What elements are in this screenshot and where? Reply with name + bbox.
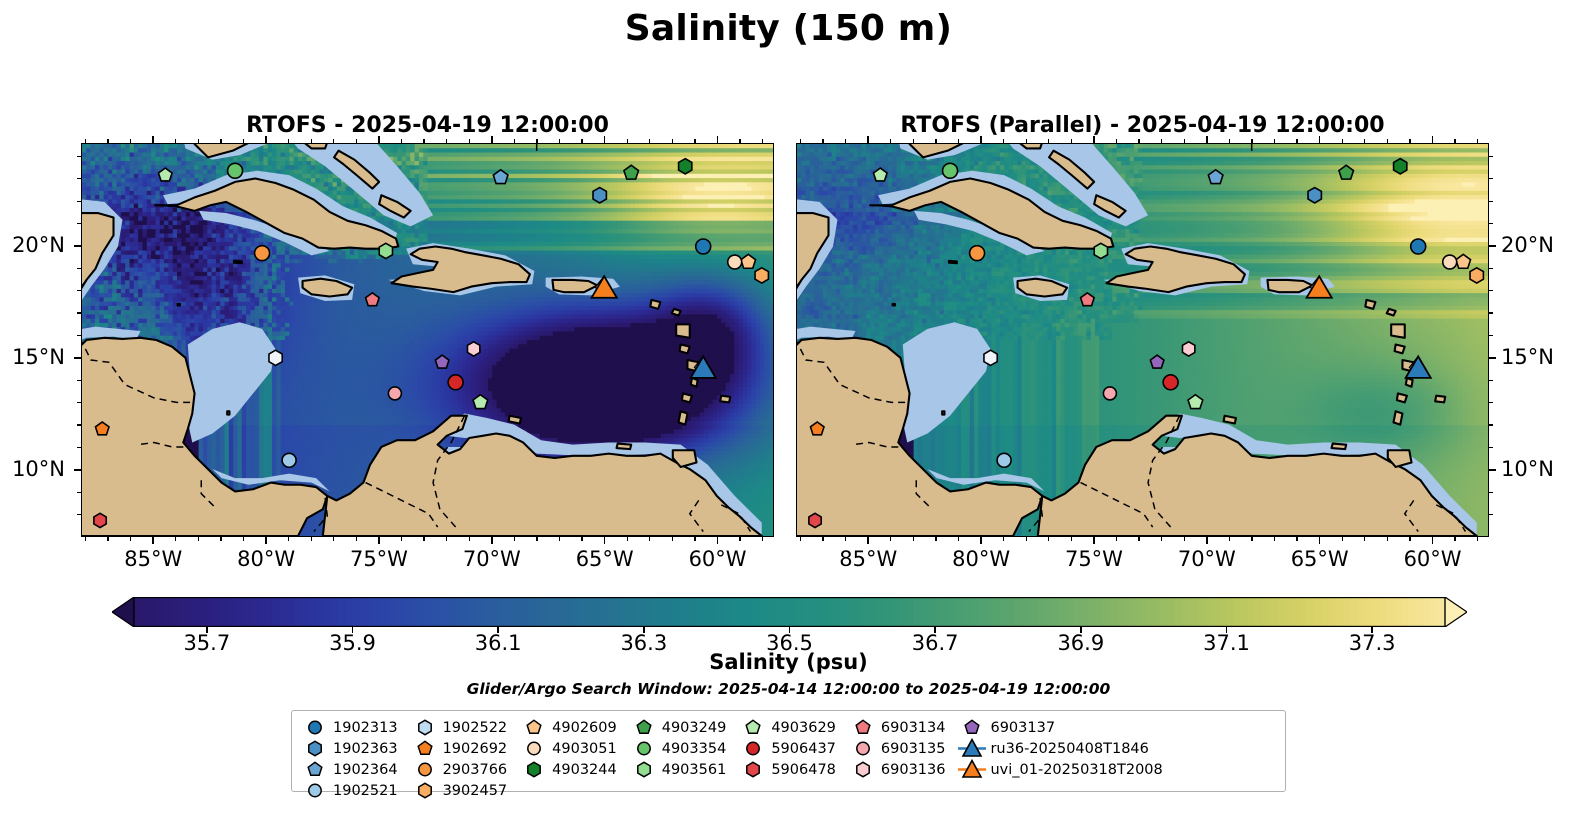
x-tick-top: [378, 136, 380, 143]
legend-item-label: 6903136: [878, 762, 946, 778]
argo-marker: [970, 246, 985, 261]
argo-marker: [255, 246, 270, 261]
y-minor-tick: [1489, 447, 1493, 448]
x-minor-tick: [694, 537, 695, 541]
x-minor-tick: [800, 139, 801, 143]
legend-marker-icon: [519, 759, 549, 780]
x-minor-tick: [1454, 139, 1455, 143]
legend-item-label: 4903249: [659, 720, 727, 736]
y-minor-tick: [77, 335, 81, 336]
legend-item[interactable]: 5906437: [738, 738, 836, 759]
argo-marker: [984, 350, 997, 365]
legend-marker-icon: [300, 780, 330, 801]
legend-item-label: 4903561: [659, 762, 727, 778]
x-tick: [867, 537, 869, 544]
x-minor-tick: [845, 537, 846, 541]
legend-marker-icon: [738, 717, 768, 738]
colorbar-tick: [643, 627, 644, 633]
y-minor-tick: [77, 201, 81, 202]
legend-item[interactable]: ru36-20250408T1846: [957, 738, 1162, 759]
x-tick: [1319, 537, 1321, 544]
x-tick-label: 75°W: [1049, 547, 1139, 571]
colorbar-tick: [352, 627, 353, 633]
x-minor-tick: [958, 139, 959, 143]
legend-item-label: ru36-20250408T1846: [987, 741, 1148, 757]
x-minor-tick: [1477, 537, 1478, 541]
argo-marker: [997, 453, 1011, 467]
colorbar-tick: [789, 627, 790, 633]
legend-item[interactable]: 4903354: [629, 738, 727, 759]
x-tick: [152, 537, 154, 544]
x-minor-tick: [649, 537, 650, 541]
x-minor-tick: [85, 537, 86, 541]
x-minor-tick: [845, 139, 846, 143]
x-minor-tick: [469, 139, 470, 143]
y-tick-label: 15°N: [1501, 345, 1575, 369]
legend-item[interactable]: 1902364: [300, 759, 398, 780]
x-minor-tick: [1003, 139, 1004, 143]
legend-marker-icon: [629, 738, 659, 759]
x-minor-tick: [672, 139, 673, 143]
colorbar-tick-label: 36.5: [745, 631, 835, 655]
x-minor-tick: [536, 537, 537, 541]
x-tick-top: [867, 136, 869, 143]
x-minor-tick: [1387, 537, 1388, 541]
argo-marker: [1308, 188, 1321, 203]
argo-marker: [388, 387, 401, 400]
x-minor-tick: [935, 537, 936, 541]
x-tick-top: [152, 136, 154, 143]
x-tick-top: [604, 136, 606, 143]
legend-item-label: 1902313: [330, 720, 398, 736]
x-minor-tick: [401, 537, 402, 541]
x-minor-tick: [762, 139, 763, 143]
x-minor-tick: [107, 537, 108, 541]
legend-item[interactable]: 4903629: [738, 717, 836, 738]
legend-marker-icon: [410, 759, 440, 780]
panel-title-left: RTOFS - 2025-04-19 12:00:00: [81, 113, 774, 138]
legend-item-label: 1902692: [440, 741, 508, 757]
y-minor-tick: [1489, 223, 1493, 224]
x-tick-top: [980, 136, 982, 143]
y-minor-tick: [77, 178, 81, 179]
legend-item-label: 2903766: [440, 762, 508, 778]
legend-item[interactable]: 6903135: [848, 738, 946, 759]
y-minor-tick: [1489, 492, 1493, 493]
x-tick: [491, 537, 493, 544]
x-tick-label: 80°W: [221, 547, 311, 571]
map-panel-rtofs-parallel[interactable]: [796, 143, 1489, 537]
x-minor-tick: [1161, 537, 1162, 541]
y-minor-tick: [1489, 514, 1493, 515]
x-minor-tick: [1409, 139, 1410, 143]
x-minor-tick: [800, 537, 801, 541]
y-minor-tick: [77, 156, 81, 157]
x-minor-tick: [333, 537, 334, 541]
y-minor-tick: [77, 380, 81, 381]
x-tick: [1206, 537, 1208, 544]
y-tick-label: 20°N: [1501, 233, 1575, 257]
x-tick-top: [1432, 136, 1434, 143]
x-minor-tick: [1251, 139, 1252, 143]
x-minor-tick: [423, 537, 424, 541]
argo-marker: [1103, 387, 1116, 400]
x-minor-tick: [311, 537, 312, 541]
argo-marker: [228, 163, 243, 178]
y-minor-tick: [1489, 156, 1493, 157]
colorbar-tick-label: 35.9: [308, 631, 398, 655]
x-tick-label: 60°W: [1388, 547, 1478, 571]
y-minor-tick: [77, 312, 81, 313]
x-minor-tick: [1477, 139, 1478, 143]
legend-item-label: uvi_01-20250318T2008: [987, 762, 1162, 778]
legend-column: 1902522190269229037663902457: [410, 717, 508, 801]
x-minor-tick: [288, 537, 289, 541]
x-minor-tick: [913, 139, 914, 143]
x-minor-tick: [581, 139, 582, 143]
legend-marker-icon: [300, 759, 330, 780]
x-tick: [604, 537, 606, 544]
x-minor-tick: [423, 139, 424, 143]
legend-marker-icon: [410, 738, 440, 759]
x-tick-top: [1206, 136, 1208, 143]
x-minor-tick: [107, 139, 108, 143]
legend-item-label: 1902522: [440, 720, 508, 736]
x-tick-label: 80°W: [936, 547, 1026, 571]
x-minor-tick: [1161, 139, 1162, 143]
x-tick-label: 60°W: [673, 547, 763, 571]
x-minor-tick: [935, 139, 936, 143]
x-minor-tick: [1409, 537, 1410, 541]
figure: Salinity (150 m) RTOFS - 2025-04-19 12:0…: [0, 0, 1577, 827]
x-minor-tick: [1048, 537, 1049, 541]
x-minor-tick: [1454, 537, 1455, 541]
argo-marker: [755, 268, 768, 283]
colorbar[interactable]: [112, 597, 1467, 627]
x-minor-tick: [130, 139, 131, 143]
x-minor-tick: [1138, 139, 1139, 143]
legend-marker-icon: [519, 738, 549, 759]
argo-marker: [679, 159, 692, 174]
x-minor-tick: [1342, 537, 1343, 541]
legend: 1902313190236319023641902521190252219026…: [291, 710, 1286, 792]
x-minor-tick: [1251, 537, 1252, 541]
x-minor-tick: [739, 537, 740, 541]
argo-marker: [943, 163, 958, 178]
x-minor-tick: [762, 537, 763, 541]
x-minor-tick: [1274, 537, 1275, 541]
y-minor-tick: [77, 424, 81, 425]
x-minor-tick: [243, 537, 244, 541]
y-minor-tick: [1489, 380, 1493, 381]
x-minor-tick: [356, 537, 357, 541]
argo-marker: [1470, 268, 1483, 283]
x-tick: [1093, 537, 1095, 544]
argo-marker: [593, 188, 606, 203]
x-minor-tick: [627, 139, 628, 143]
legend-marker-icon: [957, 738, 987, 759]
x-minor-tick: [739, 139, 740, 143]
x-minor-tick: [401, 139, 402, 143]
x-minor-tick: [1026, 537, 1027, 541]
legend-item[interactable]: 1902692: [410, 738, 508, 759]
legend-item-label: 3902457: [440, 783, 508, 799]
legend-item-label: 6903135: [878, 741, 946, 757]
colorbar-tick: [497, 627, 498, 633]
x-tick-label: 70°W: [447, 547, 537, 571]
x-minor-tick: [672, 537, 673, 541]
x-minor-tick: [1138, 537, 1139, 541]
argo-marker: [448, 375, 463, 390]
argo-marker: [282, 453, 296, 467]
y-minor-tick: [77, 290, 81, 291]
x-minor-tick: [627, 537, 628, 541]
y-tick: [1489, 357, 1496, 359]
legend-marker-icon: [410, 717, 440, 738]
legend-column: 6903137ru36-20250408T1846uvi_01-20250318…: [957, 717, 1162, 801]
x-minor-tick: [1364, 139, 1365, 143]
colorbar-tick: [1080, 627, 1081, 633]
x-minor-tick: [175, 537, 176, 541]
x-tick-top: [1093, 136, 1095, 143]
legend-item-label: 6903137: [987, 720, 1055, 736]
legend-marker-icon: [957, 759, 987, 780]
argo-marker: [94, 513, 106, 527]
x-minor-tick: [333, 139, 334, 143]
legend-item[interactable]: 5906478: [738, 759, 836, 780]
legend-column: 490260949030514903244: [519, 717, 617, 801]
x-minor-tick: [1048, 139, 1049, 143]
y-tick-label: 10°N: [0, 457, 65, 481]
argo-marker: [809, 513, 821, 527]
x-minor-tick: [446, 139, 447, 143]
x-minor-tick: [1116, 139, 1117, 143]
legend-item-label: 5906437: [768, 741, 836, 757]
x-minor-tick: [175, 139, 176, 143]
figure-title: Salinity (150 m): [0, 8, 1577, 49]
y-tick: [1489, 469, 1496, 471]
x-minor-tick: [649, 139, 650, 143]
x-minor-tick: [1296, 139, 1297, 143]
colorbar-tick-label: 36.7: [890, 631, 980, 655]
argo-marker: [1394, 159, 1407, 174]
x-minor-tick: [1364, 537, 1365, 541]
x-tick-top: [1319, 136, 1321, 143]
argo-marker: [379, 243, 392, 258]
y-tick: [1489, 245, 1496, 247]
x-minor-tick: [958, 537, 959, 541]
y-tick-label: 10°N: [1501, 457, 1575, 481]
legend-marker-icon: [410, 780, 440, 801]
colorbar-tick: [934, 627, 935, 633]
y-tick-label: 20°N: [0, 233, 65, 257]
y-minor-tick: [1489, 424, 1493, 425]
x-minor-tick: [1184, 537, 1185, 541]
legend-item[interactable]: uvi_01-20250318T2008: [957, 759, 1162, 780]
legend-item[interactable]: 6903137: [957, 717, 1162, 738]
x-minor-tick: [288, 139, 289, 143]
x-minor-tick: [1296, 537, 1297, 541]
x-tick-label: 75°W: [334, 547, 424, 571]
x-minor-tick: [822, 537, 823, 541]
x-minor-tick: [130, 537, 131, 541]
legend-item[interactable]: 4903051: [519, 738, 617, 759]
legend-marker-icon: [300, 717, 330, 738]
legend-item-label: 4903354: [659, 741, 727, 757]
x-minor-tick: [913, 537, 914, 541]
legend-column: 690313469031356903136: [848, 717, 946, 801]
x-minor-tick: [890, 537, 891, 541]
y-minor-tick: [1489, 312, 1493, 313]
legend-column: 490362959064375906478: [738, 717, 836, 801]
x-minor-tick: [446, 537, 447, 541]
x-minor-tick: [356, 139, 357, 143]
y-minor-tick: [77, 268, 81, 269]
colorbar-tick: [206, 627, 207, 633]
x-minor-tick: [559, 537, 560, 541]
x-tick-label: 85°W: [823, 547, 913, 571]
x-tick-top: [491, 136, 493, 143]
x-tick-top: [717, 136, 719, 143]
x-minor-tick: [536, 139, 537, 143]
x-minor-tick: [1116, 537, 1117, 541]
x-tick-label: 65°W: [1275, 547, 1365, 571]
y-tick: [74, 245, 81, 247]
legend-item-label: 4903629: [768, 720, 836, 736]
x-minor-tick: [1387, 139, 1388, 143]
legend-marker-icon: [629, 759, 659, 780]
legend-marker-icon: [848, 717, 878, 738]
y-minor-tick: [77, 402, 81, 403]
legend-item-label: 1902521: [330, 783, 398, 799]
x-minor-tick: [1229, 537, 1230, 541]
legend-marker-icon: [957, 717, 987, 738]
legend-item-label: 4903244: [549, 762, 617, 778]
legend-item[interactable]: 4903244: [519, 759, 617, 780]
x-minor-tick: [514, 537, 515, 541]
argo-marker: [1443, 255, 1457, 269]
x-tick-label: 70°W: [1162, 547, 1252, 571]
legend-item[interactable]: 1902521: [300, 780, 398, 801]
y-minor-tick: [77, 514, 81, 515]
legend-item[interactable]: 4903561: [629, 759, 727, 780]
x-minor-tick: [694, 139, 695, 143]
legend-item-label: 4902609: [549, 720, 617, 736]
x-minor-tick: [1274, 139, 1275, 143]
argo-marker: [467, 342, 479, 356]
x-tick-label: 85°W: [108, 547, 198, 571]
colorbar-tick-label: 35.7: [162, 631, 252, 655]
x-minor-tick: [514, 139, 515, 143]
x-tick-top: [265, 136, 267, 143]
y-minor-tick: [1489, 268, 1493, 269]
legend-item-label: 4903051: [549, 741, 617, 757]
legend-item-label: 1902363: [330, 741, 398, 757]
x-tick: [265, 537, 267, 544]
x-minor-tick: [1003, 537, 1004, 541]
x-tick-label: 65°W: [560, 547, 650, 571]
argo-marker: [696, 239, 711, 254]
map-panel-rtofs[interactable]: [81, 143, 774, 537]
y-minor-tick: [77, 492, 81, 493]
colorbar-tick-label: 36.3: [599, 631, 689, 655]
y-minor-tick: [1489, 290, 1493, 291]
argo-marker: [269, 350, 282, 365]
x-minor-tick: [85, 139, 86, 143]
y-minor-tick: [1489, 178, 1493, 179]
legend-marker-icon: [519, 717, 549, 738]
colorbar-tick: [1226, 627, 1227, 633]
legend-item[interactable]: 2903766: [410, 759, 508, 780]
y-minor-tick: [1489, 335, 1493, 336]
legend-item-label: 5906478: [768, 762, 836, 778]
y-tick-label: 15°N: [0, 345, 65, 369]
legend-item[interactable]: 6903134: [848, 717, 946, 738]
legend-marker-icon: [848, 738, 878, 759]
colorbar-tick-label: 37.1: [1182, 631, 1272, 655]
legend-column: 1902313190236319023641902521: [300, 717, 398, 801]
legend-item[interactable]: 4903249: [629, 717, 727, 738]
y-tick: [74, 357, 81, 359]
legend-marker-icon: [848, 759, 878, 780]
legend-item[interactable]: 1902313: [300, 717, 398, 738]
colorbar-tick-label: 37.3: [1327, 631, 1417, 655]
colorbar-tick-label: 36.1: [453, 631, 543, 655]
legend-item[interactable]: 3902457: [410, 780, 508, 801]
legend-item[interactable]: 1902522: [410, 717, 508, 738]
x-minor-tick: [198, 139, 199, 143]
legend-item[interactable]: 4902609: [519, 717, 617, 738]
y-minor-tick: [1489, 201, 1493, 202]
x-minor-tick: [198, 537, 199, 541]
x-tick: [1432, 537, 1434, 544]
x-minor-tick: [1071, 139, 1072, 143]
x-minor-tick: [220, 537, 221, 541]
legend-marker-icon: [300, 738, 330, 759]
x-minor-tick: [1026, 139, 1027, 143]
y-minor-tick: [77, 223, 81, 224]
argo-marker: [728, 255, 742, 269]
x-minor-tick: [220, 139, 221, 143]
y-minor-tick: [1489, 402, 1493, 403]
argo-marker: [1163, 375, 1178, 390]
x-minor-tick: [311, 139, 312, 143]
legend-marker-icon: [738, 738, 768, 759]
legend-marker-icon: [738, 759, 768, 780]
legend-item-label: 1902364: [330, 762, 398, 778]
legend-column: 490324949033544903561: [629, 717, 727, 801]
x-minor-tick: [559, 139, 560, 143]
x-minor-tick: [822, 139, 823, 143]
argo-marker: [1182, 342, 1194, 356]
x-tick: [980, 537, 982, 544]
legend-item[interactable]: 1902363: [300, 738, 398, 759]
argo-marker: [1094, 243, 1107, 258]
legend-marker-icon: [629, 717, 659, 738]
x-minor-tick: [1342, 139, 1343, 143]
legend-item-label: 6903134: [878, 720, 946, 736]
legend-item[interactable]: 6903136: [848, 759, 946, 780]
search-window-text: Glider/Argo Search Window: 2025-04-14 12…: [0, 680, 1577, 698]
y-minor-tick: [77, 447, 81, 448]
y-tick: [74, 469, 81, 471]
x-minor-tick: [1071, 537, 1072, 541]
colorbar-tick: [1371, 627, 1372, 633]
panel-title-right: RTOFS (Parallel) - 2025-04-19 12:00:00: [796, 113, 1489, 138]
x-minor-tick: [469, 537, 470, 541]
x-minor-tick: [243, 139, 244, 143]
x-minor-tick: [581, 537, 582, 541]
